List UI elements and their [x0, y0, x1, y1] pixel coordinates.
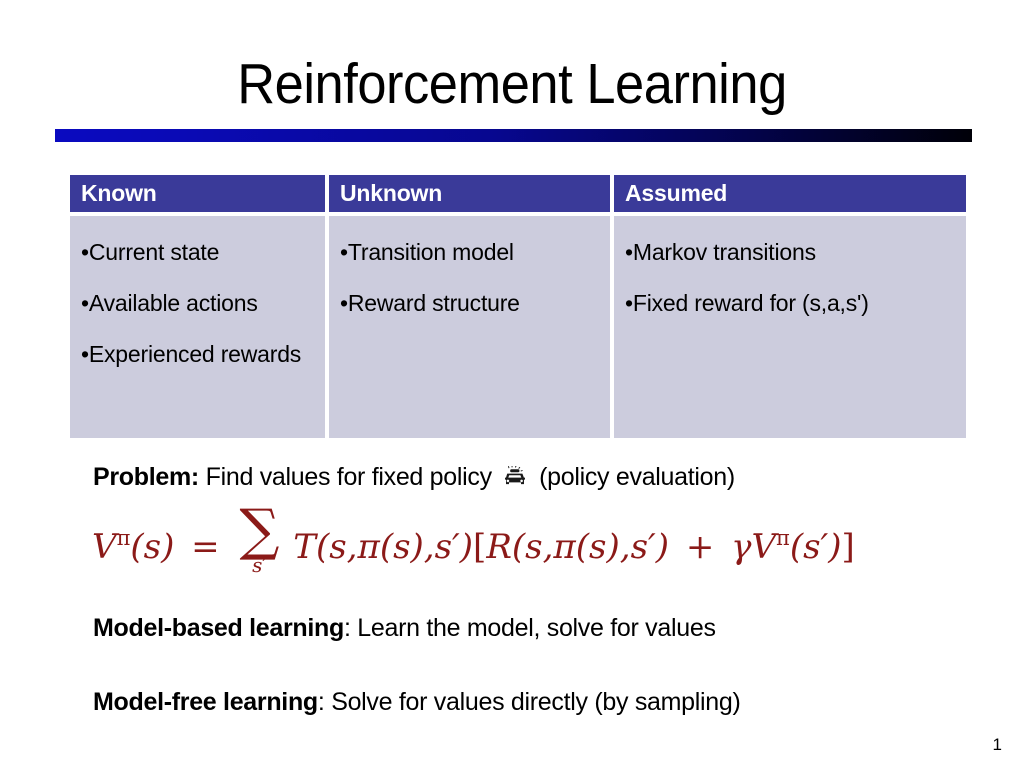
formula-plus: +	[686, 527, 715, 567]
bullet-icon: •	[81, 290, 89, 316]
list-item: •Markov transitions	[625, 227, 958, 278]
page-number: 1	[993, 735, 1002, 755]
bullet-icon: •	[340, 290, 348, 316]
bullet-icon: •	[81, 341, 89, 367]
table-cell-assumed: •Markov transitions •Fixed reward for (s…	[614, 216, 966, 438]
list-item: •Current state	[81, 227, 317, 278]
list-item: •Transition model	[340, 227, 602, 278]
bullet-icon: •	[340, 239, 348, 265]
model-based-text: : Learn the model, solve for values	[344, 614, 716, 642]
formula-lhs: Vπ(s)	[92, 527, 174, 567]
bullet-icon: •	[625, 290, 633, 316]
list-item-label: Reward structure	[348, 290, 520, 316]
list-item: •Reward structure	[340, 278, 602, 329]
model-based-learning-statement: Model-based learning: Learn the model, s…	[93, 612, 716, 644]
formula-transition-term: T(s,π(s),s′)	[293, 527, 473, 567]
list-item-label: Transition model	[348, 239, 514, 265]
model-free-label: Model-free learning	[93, 688, 318, 716]
formula-gamma: γ	[731, 527, 751, 567]
list-item-label: Current state	[89, 239, 219, 265]
list-item: •Experienced rewards	[81, 329, 317, 380]
table-header-unknown: Unknown	[329, 175, 610, 212]
formula-summation: ∑ s′	[239, 508, 279, 575]
problem-label: Problem:	[93, 463, 199, 491]
facts-table: Known Unknown Assumed •Current state •Av…	[70, 175, 966, 438]
model-based-label: Model-based learning	[93, 614, 344, 642]
list-item-label: Available actions	[89, 290, 258, 316]
table-header-row: Known Unknown Assumed	[70, 175, 966, 212]
list-item-label: Experienced rewards	[89, 341, 301, 367]
table-header-known: Known	[70, 175, 325, 212]
formula-bracket-open: [	[473, 527, 486, 567]
model-free-learning-statement: Model-free learning: Solve for values di…	[93, 686, 741, 718]
list-item-label: Markov transitions	[633, 239, 816, 265]
bullet-icon: •	[625, 239, 633, 265]
bellman-policy-evaluation-formula: Vπ(s) = ∑ s′ T(s,π(s),s′)[R(s,π(s),s′) +…	[92, 508, 912, 588]
problem-text-before: Find values for fixed policy	[206, 463, 492, 491]
formula-rhs-value: Vπ(s′)	[751, 527, 841, 567]
list-item: •Available actions	[81, 278, 317, 329]
table-header-assumed: Assumed	[614, 175, 966, 212]
problem-text-after: (policy evaluation)	[539, 463, 735, 491]
formula-reward-term: R(s,π(s),s′)	[486, 527, 669, 567]
problem-statement: Problem: Find values for fixed policy (p…	[93, 461, 735, 493]
model-free-text: : Solve for values directly (by sampling…	[318, 688, 741, 716]
title-underline-rule	[55, 129, 972, 142]
table-body-row: •Current state •Available actions •Exper…	[70, 216, 966, 438]
bullet-icon: •	[81, 239, 89, 265]
police-car-glyph-icon	[502, 466, 528, 490]
formula-equals: =	[191, 527, 220, 567]
page-title: Reinforcement Learning	[41, 52, 983, 116]
sigma-icon: ∑	[239, 508, 279, 554]
formula-bracket-close: ]	[842, 527, 855, 567]
table-cell-known: •Current state •Available actions •Exper…	[70, 216, 325, 438]
table-cell-unknown: •Transition model •Reward structure	[329, 216, 610, 438]
list-item: •Fixed reward for (s,a,s')	[625, 278, 958, 329]
list-item-label: Fixed reward for (s,a,s')	[633, 290, 869, 316]
